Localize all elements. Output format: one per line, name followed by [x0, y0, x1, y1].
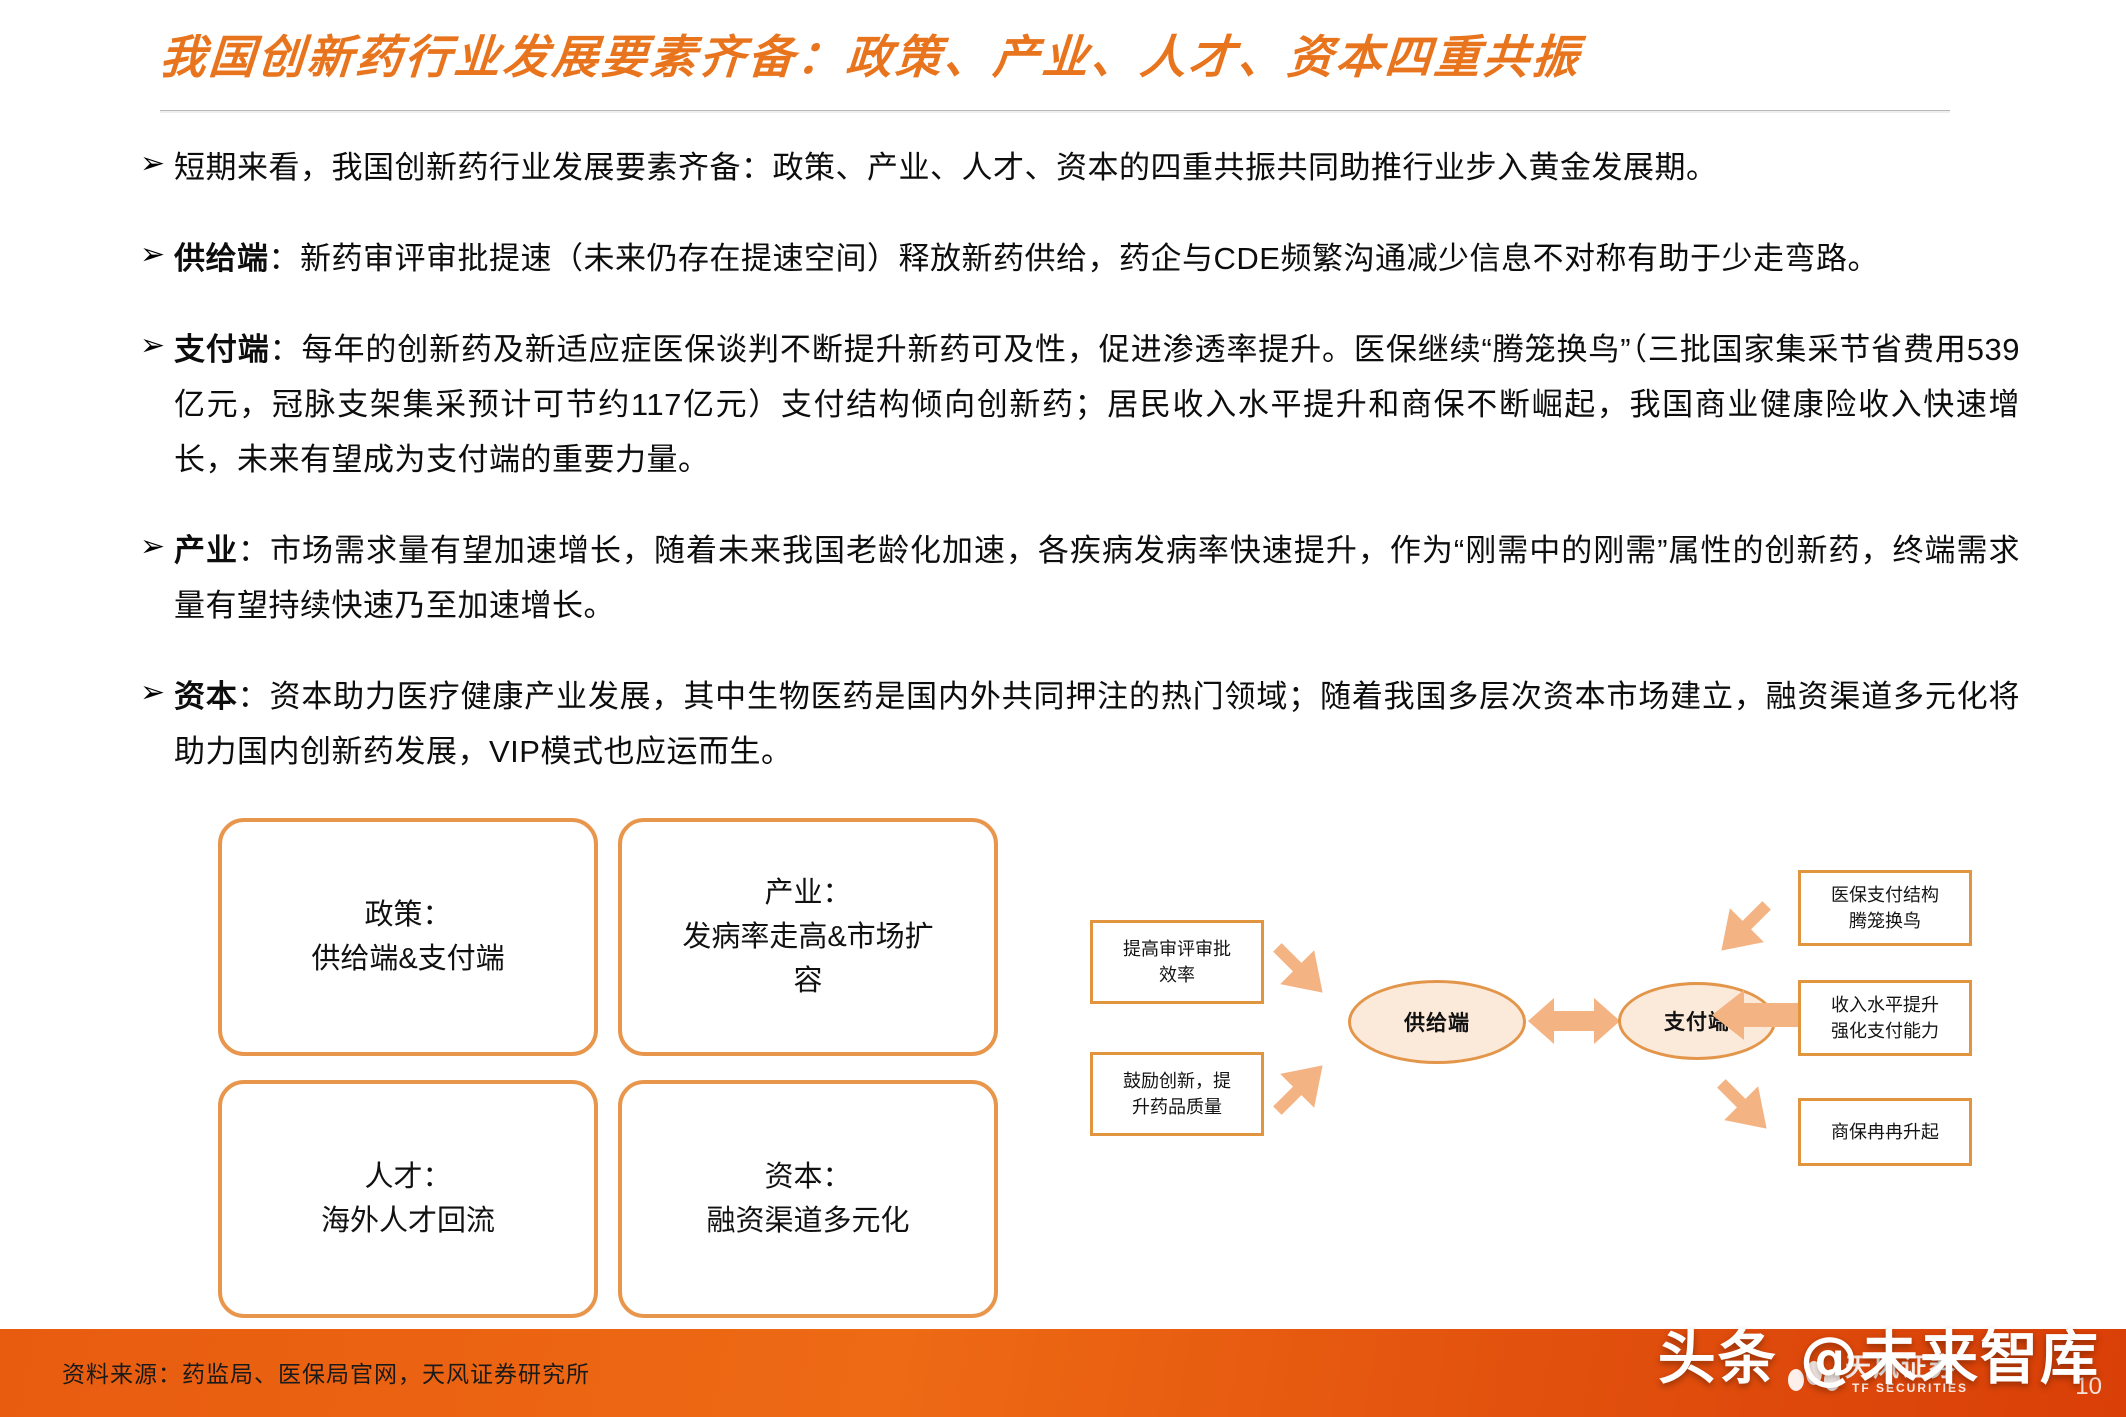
bullet-text: 供给端：新药审评审批提速（未来仍存在提速空间）释放新药供给，药企与CDE频繁沟通…	[174, 231, 2020, 286]
watermark-text: 头条 @未来智库	[1658, 1311, 2100, 1395]
list-item: ➢ 供给端：新药审评审批提速（未来仍存在提速空间）释放新药供给，药企与CDE频繁…	[140, 231, 2020, 286]
arrow-left-icon	[1712, 990, 1800, 1040]
bullet-arrow-icon: ➢	[140, 669, 174, 717]
bullet-body: ：每年的创新药及新适应症医保谈判不断提升新药可及性，促进渗透率提升。医保继续“腾…	[174, 332, 2020, 477]
flow-box-label: 鼓励创新，提 升药品质量	[1123, 1068, 1231, 1120]
bullet-body: ：资本助力医疗健康产业发展，其中生物医药是国内外共同押注的热门领域；随着我国多层…	[174, 679, 2020, 769]
bullet-lead: 资本	[174, 679, 238, 714]
arrow-up-left-icon	[1716, 1070, 1796, 1148]
bullet-lead: 支付端	[174, 332, 270, 367]
node-supply-side: 供给端	[1348, 980, 1526, 1064]
factor-box-label: 产业： 发病率走高&市场扩 容	[682, 871, 933, 1003]
flow-box-label: 医保支付结构 腾笼换鸟	[1831, 882, 1939, 934]
list-item: ➢ 资本：资本助力医疗健康产业发展，其中生物医药是国内外共同押注的热门领域；随着…	[140, 669, 2020, 779]
list-item: ➢ 支付端：每年的创新药及新适应症医保谈判不断提升新药可及性，促进渗透率提升。医…	[140, 322, 2020, 487]
bullet-arrow-icon: ➢	[140, 322, 174, 370]
arrow-down-right-icon	[1272, 932, 1352, 1010]
factor-box-policy: 政策： 供给端&支付端	[218, 818, 598, 1056]
bullet-text: 产业：市场需求量有望加速增长，随着未来我国老龄化加速，各疾病发病率快速提升，作为…	[174, 523, 2020, 633]
factor-box-capital: 资本： 融资渠道多元化	[618, 1080, 998, 1318]
bullet-list: ➢ 短期来看，我国创新药行业发展要素齐备：政策、产业、人才、资本的四重共振共同助…	[140, 140, 2020, 815]
list-item: ➢ 短期来看，我国创新药行业发展要素齐备：政策、产业、人才、资本的四重共振共同助…	[140, 140, 2020, 195]
flow-box-label: 商保冉冉升起	[1831, 1119, 1939, 1145]
bullet-arrow-icon: ➢	[140, 231, 174, 279]
four-factor-diagram: 政策： 供给端&支付端 产业： 发病率走高&市场扩 容 人才： 海外人才回流 资…	[218, 818, 1008, 1318]
factor-box-label: 政策： 供给端&支付端	[311, 893, 504, 981]
flow-box-label: 提高审评审批 效率	[1123, 936, 1231, 988]
bullet-body: ：新药审评审批提速（未来仍存在提速空间）释放新药供给，药企与CDE频繁沟通减少信…	[269, 241, 1879, 276]
bullet-arrow-icon: ➢	[140, 140, 174, 188]
list-item: ➢ 产业：市场需求量有望加速增长，随着未来我国老龄化加速，各疾病发病率快速提升，…	[140, 523, 2020, 633]
title-block: 我国创新药行业发展要素齐备：政策、产业、人才、资本四重共振	[160, 32, 1960, 84]
double-arrow-icon	[1528, 994, 1620, 1048]
factor-box-label: 人才： 海外人才回流	[321, 1155, 495, 1243]
title-divider	[160, 110, 1950, 113]
supply-payment-flow-diagram: 提高审评审批 效率 鼓励创新，提 升药品质量 供给端 支付端 医保支付结构 腾笼…	[1080, 870, 2010, 1200]
bullet-text: 支付端：每年的创新药及新适应症医保谈判不断提升新药可及性，促进渗透率提升。医保继…	[174, 322, 2020, 487]
node-label: 供给端	[1404, 1007, 1470, 1037]
bullet-lead: 供给端	[174, 241, 269, 276]
page-title: 我国创新药行业发展要素齐备：政策、产业、人才、资本四重共振	[158, 32, 1962, 84]
bullet-text: 短期来看，我国创新药行业发展要素齐备：政策、产业、人才、资本的四重共振共同助推行…	[174, 140, 2020, 195]
flow-box-review-efficiency: 提高审评审批 效率	[1090, 920, 1264, 1004]
bullet-text: 资本：资本助力医疗健康产业发展，其中生物医药是国内外共同押注的热门领域；随着我国…	[174, 669, 2020, 779]
flow-box-encourage-innovation: 鼓励创新，提 升药品质量	[1090, 1052, 1264, 1136]
source-note: 资料来源：药监局、医保局官网，天风证券研究所	[62, 1355, 590, 1389]
bullet-lead: 产业	[174, 533, 238, 568]
flow-box-label: 收入水平提升 强化支付能力	[1831, 992, 1939, 1044]
factor-box-talent: 人才： 海外人才回流	[218, 1080, 598, 1318]
flow-box-income-growth: 收入水平提升 强化支付能力	[1798, 980, 1972, 1056]
factor-box-industry: 产业： 发病率走高&市场扩 容	[618, 818, 998, 1056]
bullet-arrow-icon: ➢	[140, 523, 174, 571]
flow-box-insurance-structure: 医保支付结构 腾笼换鸟	[1798, 870, 1972, 946]
arrow-down-left-icon	[1716, 892, 1796, 970]
bullet-body: ：市场需求量有望加速增长，随着未来我国老龄化加速，各疾病发病率快速提升，作为“刚…	[174, 533, 2020, 623]
arrow-up-right-icon	[1272, 1052, 1352, 1130]
factor-box-label: 资本： 融资渠道多元化	[706, 1155, 909, 1243]
bullet-body: 短期来看，我国创新药行业发展要素齐备：政策、产业、人才、资本的四重共振共同助推行…	[174, 150, 1718, 185]
flow-box-commercial-insurance: 商保冉冉升起	[1798, 1098, 1972, 1166]
